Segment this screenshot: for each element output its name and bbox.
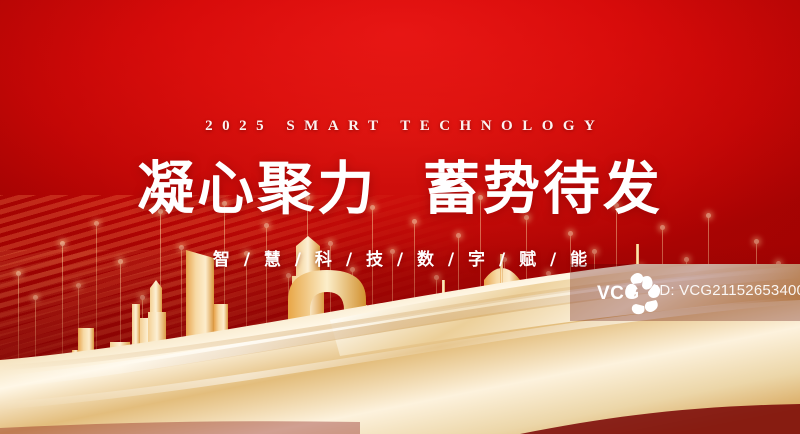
tagline-text: 2025 SMART TECHNOLOGY <box>0 118 800 135</box>
watermark-id-text: ID: VCG211526534009 <box>655 282 800 299</box>
headline-text: 凝心聚力 蓄势待发 <box>0 158 800 220</box>
poster-canvas: 2025 SMART TECHNOLOGY 凝心聚力 蓄势待发 智 / 慧 / … <box>0 0 800 434</box>
